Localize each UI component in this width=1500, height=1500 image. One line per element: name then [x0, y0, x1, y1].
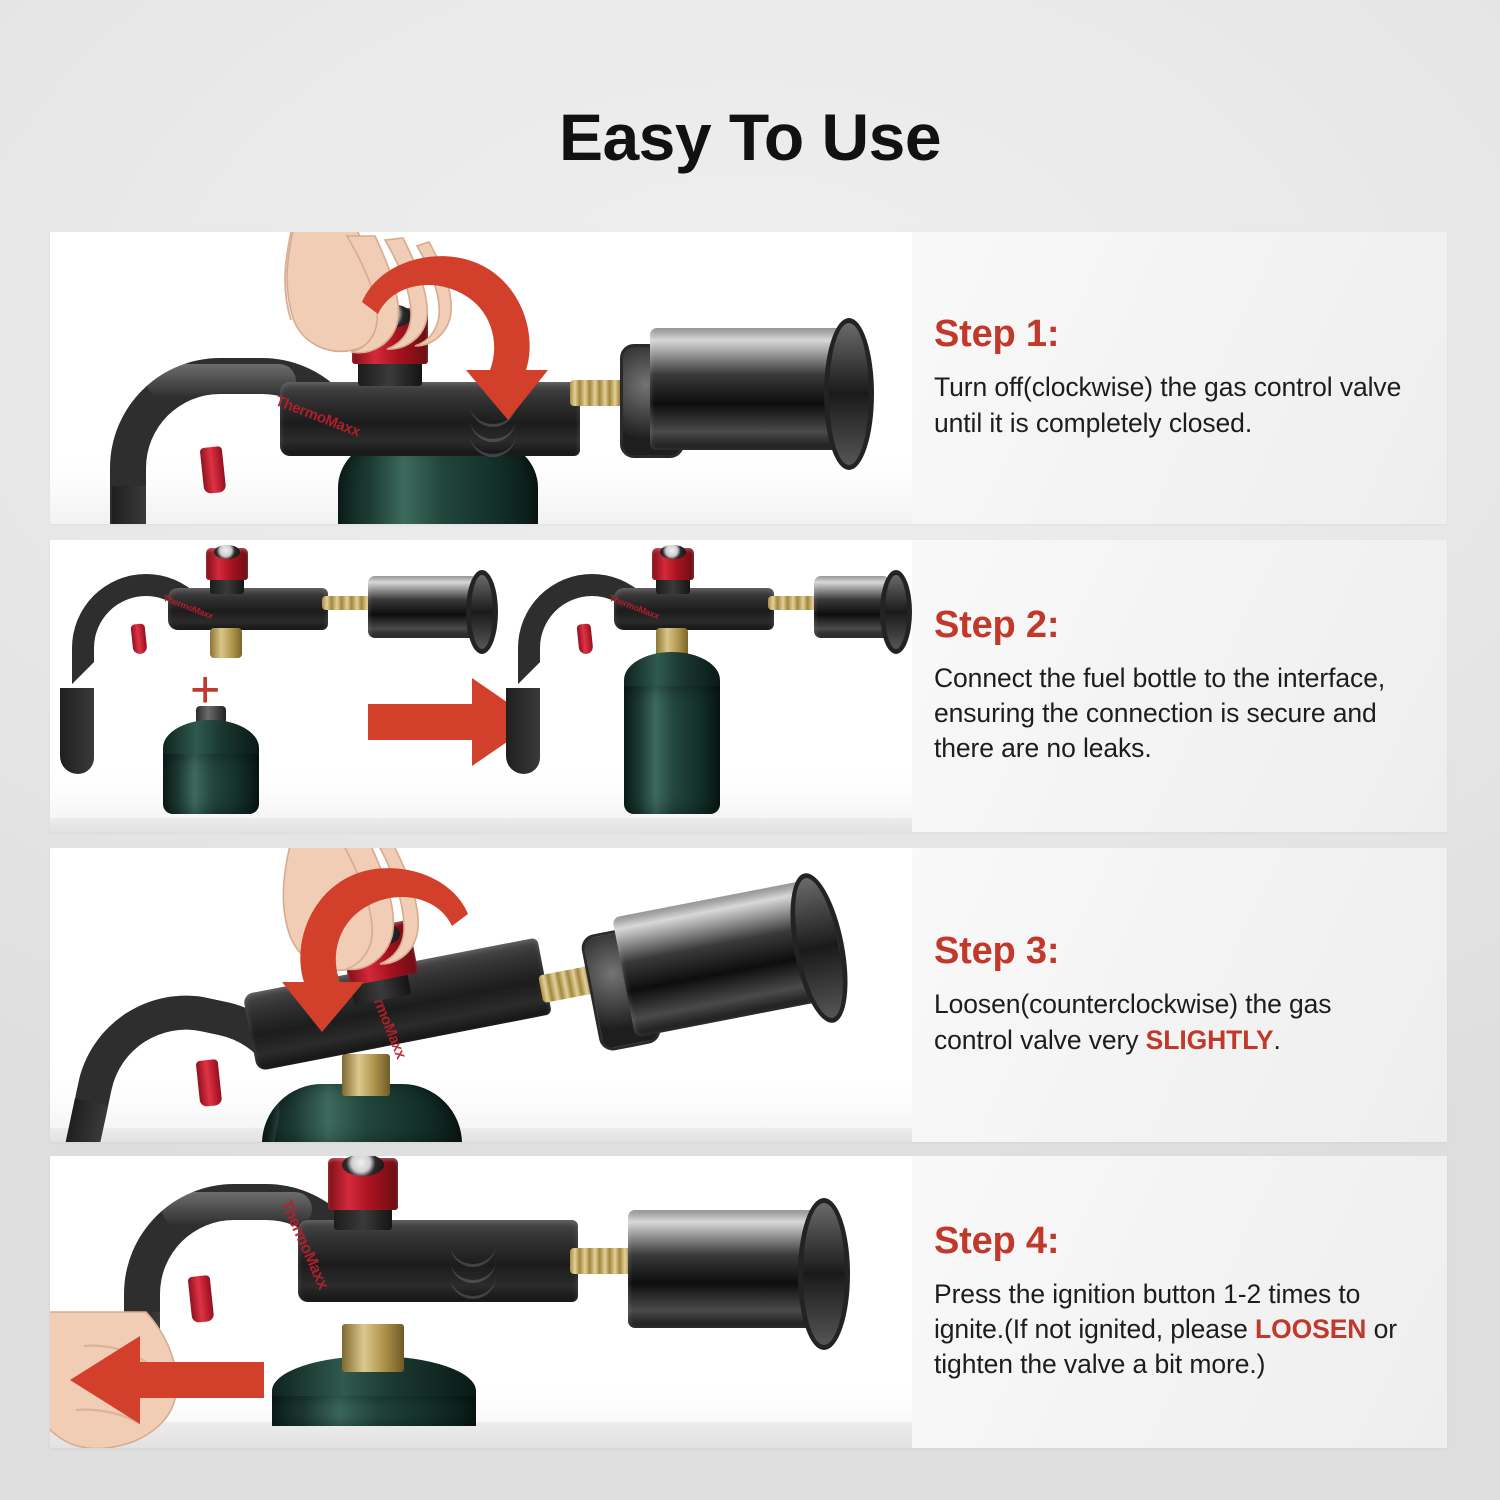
step-1-figure: ThermoMaxx [50, 232, 912, 524]
chrome-burner-nozzle-detached [368, 576, 478, 638]
step-3-description-part-3: . [1273, 1025, 1280, 1055]
clockwise-curved-arrow-icon [340, 244, 570, 424]
chrome-burner-nozzle-assembled [814, 576, 890, 638]
step-4-description: Press the ignition button 1-2 times to i… [934, 1277, 1417, 1383]
brass-flex-tube-detached [322, 596, 374, 610]
step-3-emphasis-slightly: SLIGHTLY [1146, 1025, 1274, 1055]
ignition-trigger [200, 446, 227, 494]
page-title: Easy To Use [559, 104, 941, 170]
step-4-text-column: Step 4: Press the ignition button 1-2 ti… [912, 1156, 1447, 1448]
step-panel-1: ThermoMaxx [50, 232, 1447, 524]
burner-front-ring-4 [798, 1198, 850, 1350]
page-title-wrapper: Easy To Use [0, 104, 1500, 170]
green-fuel-bottle-4 [272, 1396, 476, 1426]
green-fuel-bottle-detached [163, 754, 259, 814]
brass-flex-tube-assembled [768, 596, 820, 610]
step-1-text-column: Step 1: Turn off(clockwise) the gas cont… [912, 232, 1447, 524]
step-1-description: Turn off(clockwise) the gas control valv… [934, 370, 1417, 440]
burner-front-ring-detached [466, 570, 498, 654]
chrome-burner-nozzle [650, 328, 848, 450]
torch-bottle-interface [210, 628, 242, 658]
step-3-figure: ThermoMaxx [50, 848, 912, 1142]
bottle-brass-neck-3 [342, 1054, 390, 1096]
left-arrow-icon [68, 1334, 264, 1426]
step-3-text-column: Step 3: Loosen(counterclockwise) the gas… [912, 848, 1447, 1142]
burner-front-ring-assembled [880, 570, 912, 654]
step-4-label: Step 4: [934, 1222, 1417, 1260]
step-4-figure: ThermoMaxx [50, 1156, 912, 1448]
step-2-description: Connect the fuel bottle to the interface… [934, 661, 1417, 767]
step-3-description: Loosen(counterclockwise) the gas control… [934, 987, 1417, 1057]
step-4-emphasis-loosen: LOOSEN [1255, 1314, 1366, 1344]
counterclockwise-curved-arrow-icon [260, 856, 490, 1036]
step-panel-4: ThermoMaxx [50, 1156, 1447, 1448]
step-3-label: Step 3: [934, 932, 1417, 970]
step-2-figure: ThermoMaxx + [50, 540, 912, 832]
step-1-description-text: Turn off(clockwise) the gas control valv… [934, 372, 1401, 437]
step-2-label: Step 2: [934, 606, 1417, 644]
infographic-page: Easy To Use ThermoMaxx [0, 0, 1500, 1500]
step-2-text-column: Step 2: Connect the fuel bottle to the i… [912, 540, 1447, 832]
step-panel-2: ThermoMaxx + [50, 540, 1447, 832]
torch-barrel-4 [298, 1220, 578, 1302]
chrome-burner-nozzle-4 [628, 1210, 822, 1328]
step-1-label: Step 1: [934, 315, 1417, 353]
brass-flex-tube-4 [570, 1248, 636, 1274]
step-2-description-text: Connect the fuel bottle to the interface… [934, 663, 1385, 763]
burner-front-ring [824, 318, 874, 470]
step-panel-3: ThermoMaxx [50, 848, 1447, 1142]
ignition-trigger-detached [130, 623, 147, 654]
green-fuel-bottle-assembled [624, 686, 720, 814]
ignition-trigger-3 [196, 1059, 223, 1107]
ignition-trigger-assembled [576, 623, 593, 654]
